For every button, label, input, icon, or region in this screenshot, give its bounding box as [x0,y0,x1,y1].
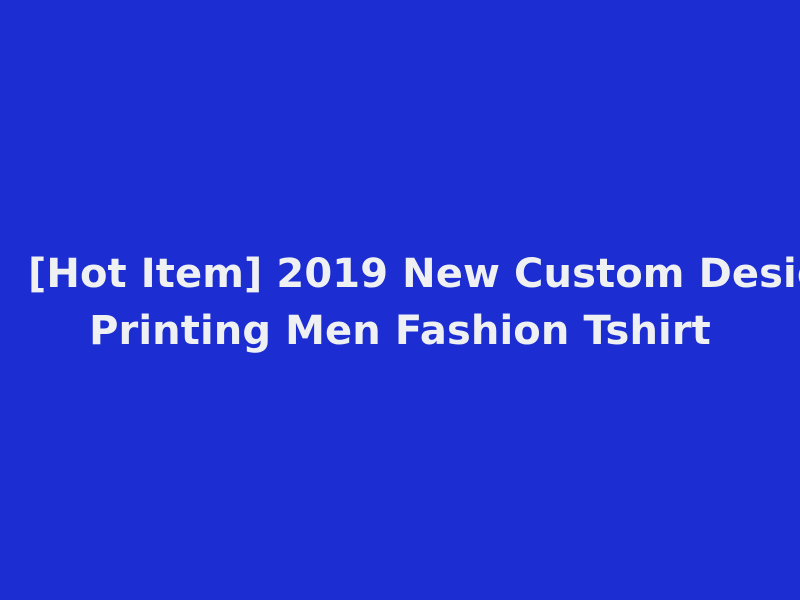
page-title-line-2: Printing Men Fashion Tshirt [28,303,772,360]
page-title-line-1: [Hot Item] 2019 New Custom Design [28,246,772,303]
page-title: [Hot Item] 2019 New Custom Design Printi… [0,246,800,360]
placeholder-card: [Hot Item] 2019 New Custom Design Printi… [0,0,800,600]
